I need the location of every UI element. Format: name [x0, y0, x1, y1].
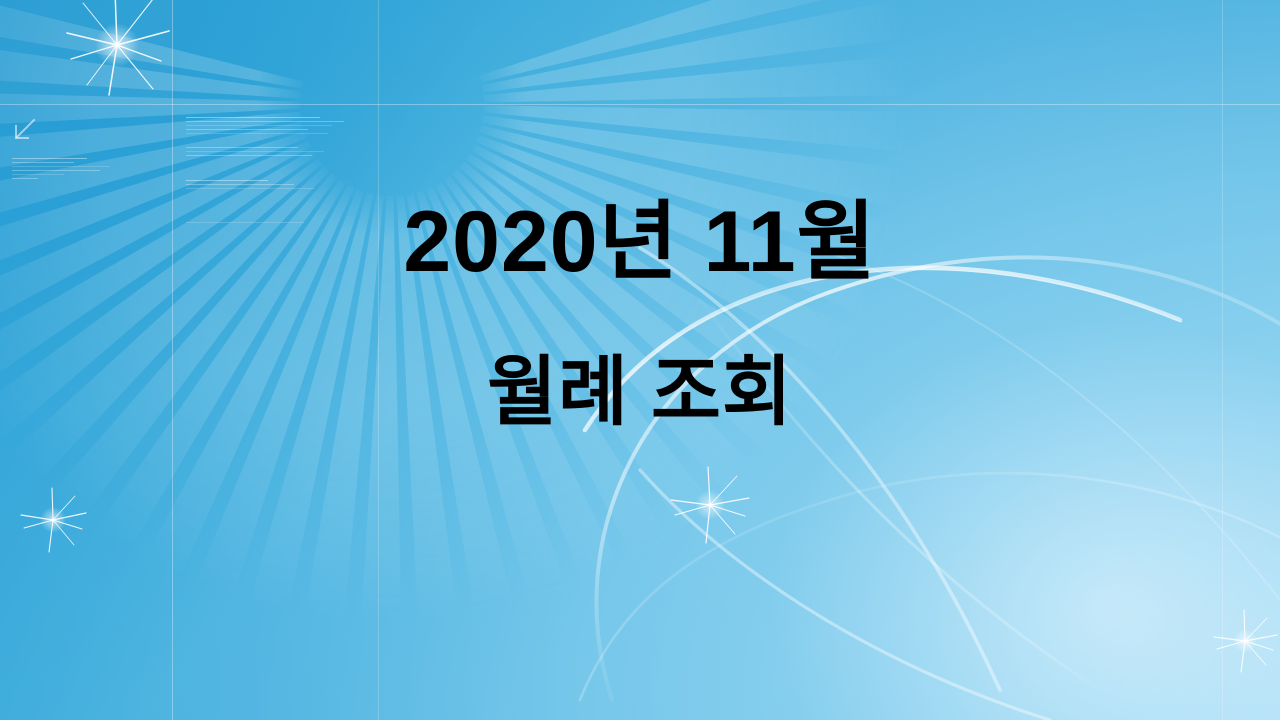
- presentation-slide: 2020년 11월 월례 조회: [0, 0, 1280, 720]
- slide-subtitle: 월례 조회: [487, 353, 793, 433]
- slide-title: 2020년 11월: [403, 197, 876, 287]
- slide-text-container: 2020년 11월 월례 조회: [0, 0, 1280, 720]
